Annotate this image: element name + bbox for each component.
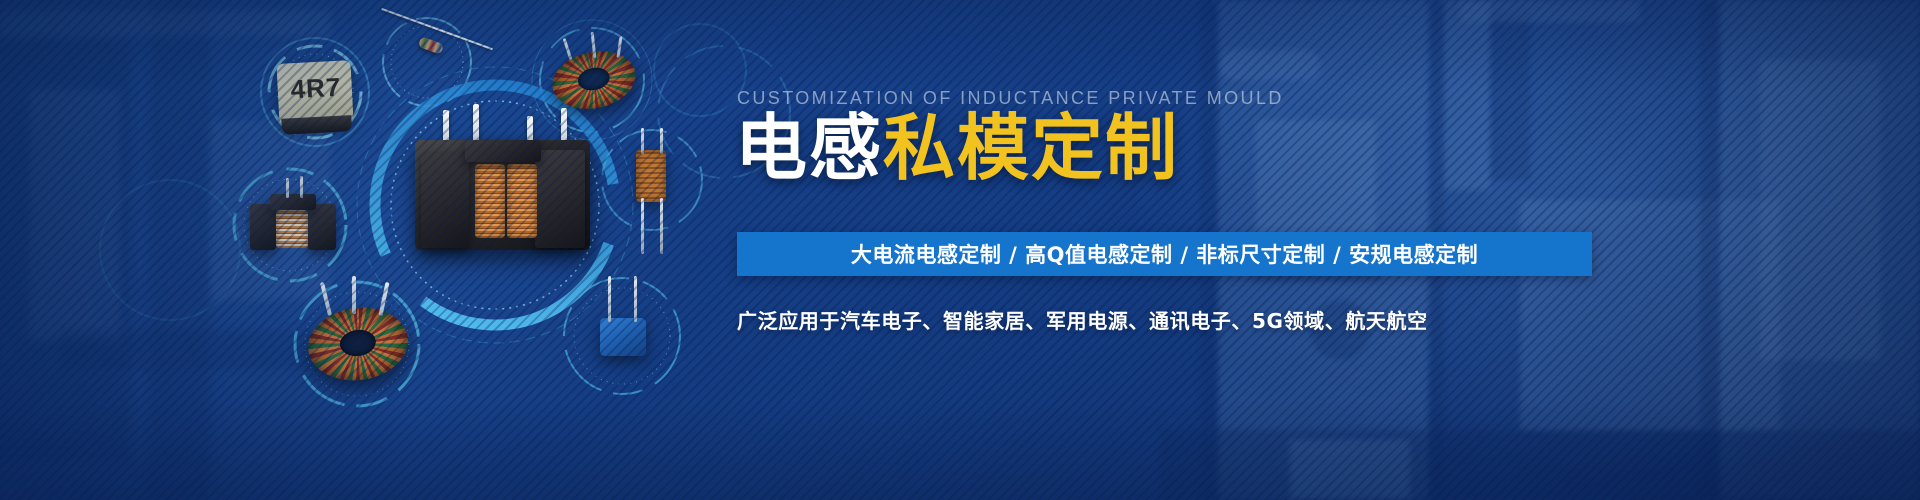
headline-part-yellow: 私模定制 — [883, 106, 1179, 190]
feature-list-text: 大电流电感定制 / 高Q值电感定制 / 非标尺寸定制 / 安规电感定制 — [851, 239, 1478, 269]
product-banner: 4R7 — [0, 0, 1920, 500]
banner-text-block: CUSTOMIZATION OF INDUCTANCE PRIVATE MOUL… — [735, 0, 1835, 500]
headline-part-white: 电感 — [735, 106, 883, 190]
page-title: 电感私模定制 — [735, 112, 1179, 184]
application-description: 广泛应用于汽车电子、智能家居、军用电源、通讯电子、5G领域、航天航空 — [737, 305, 1428, 334]
feature-list-bar: 大电流电感定制 / 高Q值电感定制 / 非标尺寸定制 / 安规电感定制 — [737, 232, 1592, 276]
